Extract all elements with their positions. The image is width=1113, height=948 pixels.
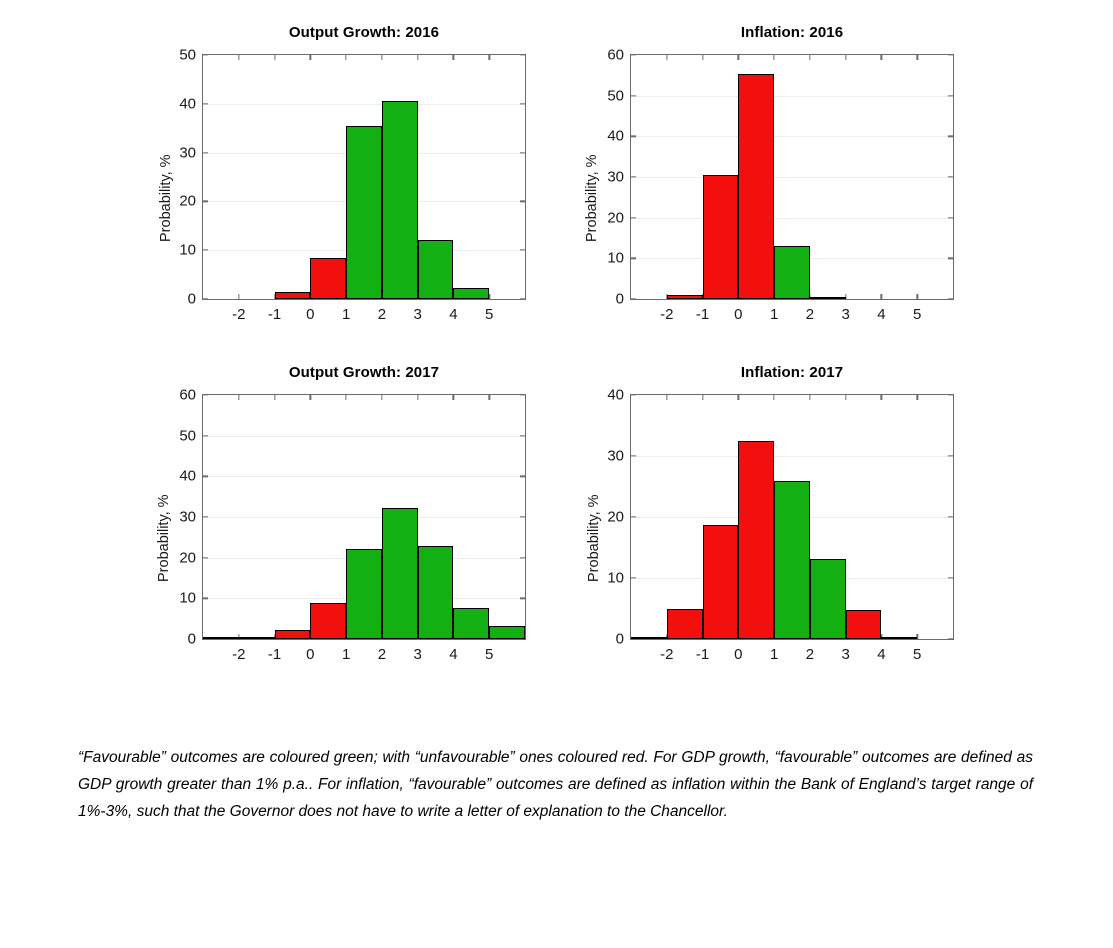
grid-line (203, 104, 525, 105)
y-axis-tick (520, 152, 525, 153)
y-axis-tick (203, 201, 208, 202)
x-axis-tick (489, 55, 490, 60)
x-axis-tick (274, 395, 275, 400)
y-axis-tick (203, 598, 208, 599)
x-axis-tick-label: 3 (841, 306, 849, 323)
x-axis-tick-label: 1 (342, 306, 350, 323)
y-axis-tick-label: 10 (607, 250, 624, 267)
x-axis-tick (845, 55, 846, 60)
bar (810, 297, 846, 299)
x-axis-tick (345, 395, 346, 400)
y-axis-tick (948, 258, 953, 259)
y-axis-tick (948, 577, 953, 578)
grid-line (203, 517, 525, 518)
x-axis-tick (702, 395, 703, 400)
plot-area: 0102030405060-2-1012345 (630, 54, 954, 300)
y-axis-tick (948, 394, 953, 395)
x-axis-tick (666, 55, 667, 60)
y-axis-tick (948, 455, 953, 456)
y-axis-tick (520, 298, 525, 299)
y-axis-tick (203, 476, 208, 477)
y-axis-tick (520, 201, 525, 202)
x-axis-tick-label: -1 (268, 306, 281, 323)
y-axis-tick (948, 176, 953, 177)
bar (453, 288, 489, 299)
y-axis-tick-label: 30 (179, 509, 196, 526)
x-axis-tick (417, 55, 418, 60)
x-axis-tick-label: 2 (378, 306, 386, 323)
y-axis-tick (948, 298, 953, 299)
y-axis-tick-label: 30 (179, 144, 196, 161)
plot-area: 01020304050-2-1012345 (202, 54, 526, 300)
y-axis-tick (948, 217, 953, 218)
x-axis-tick (381, 395, 382, 400)
y-axis-tick-label: 20 (179, 549, 196, 566)
x-axis-tick-label: -1 (696, 306, 709, 323)
chart-title: Inflation: 2017 (630, 364, 954, 381)
bar (382, 508, 418, 639)
x-axis-tick-label: 0 (734, 306, 742, 323)
y-axis-tick (520, 598, 525, 599)
x-axis-tick (310, 395, 311, 400)
bar (881, 637, 917, 639)
chart-panel-output-growth-2017: Output Growth: 2017 Probability, % 01020… (202, 364, 526, 640)
y-axis-label: Probability, % (158, 154, 174, 242)
bar (667, 295, 703, 299)
y-axis-tick (631, 577, 636, 578)
y-axis-tick-label: 40 (179, 95, 196, 112)
y-axis-tick (948, 516, 953, 517)
bar (275, 630, 311, 639)
y-axis-tick (520, 54, 525, 55)
plot-area: 0102030405060-2-1012345 (202, 394, 526, 640)
x-axis-tick (917, 395, 918, 400)
y-axis-tick (631, 298, 636, 299)
y-axis-tick (520, 435, 525, 436)
x-axis-tick-label: 4 (877, 306, 885, 323)
y-axis-tick (520, 557, 525, 558)
y-axis-tick-label: 40 (607, 387, 624, 404)
bar (346, 126, 382, 299)
x-axis-tick-label: 4 (449, 306, 457, 323)
x-axis-tick-label: -1 (696, 646, 709, 663)
bar (203, 637, 239, 639)
x-axis-tick-label: 0 (734, 646, 742, 663)
y-axis-tick (520, 476, 525, 477)
grid-line (631, 456, 953, 457)
chart-title: Output Growth: 2017 (202, 364, 526, 381)
y-axis-tick (631, 258, 636, 259)
x-axis-tick-label: 4 (877, 646, 885, 663)
x-axis-tick (809, 55, 810, 60)
x-axis-tick-label: 1 (770, 306, 778, 323)
bar (703, 175, 739, 299)
bar (275, 292, 311, 299)
x-axis-tick (453, 55, 454, 60)
chart-panel-inflation-2016: Inflation: 2016 Probability, % 010203040… (630, 24, 954, 300)
bar (774, 246, 810, 299)
x-axis-tick (881, 395, 882, 400)
y-axis-tick-label: 10 (179, 242, 196, 259)
bar (453, 608, 489, 639)
y-axis-tick (948, 638, 953, 639)
bar (846, 610, 882, 639)
x-axis-tick (809, 395, 810, 400)
bar (667, 609, 703, 640)
y-axis-tick-label: 50 (179, 427, 196, 444)
y-axis-tick-label: 10 (179, 590, 196, 607)
y-axis-tick (631, 217, 636, 218)
y-axis-tick-label: 20 (607, 209, 624, 226)
x-axis-tick (345, 55, 346, 60)
x-axis-tick (881, 294, 882, 299)
x-axis-tick-label: 2 (378, 646, 386, 663)
y-axis-tick (203, 103, 208, 104)
y-axis-tick (631, 136, 636, 137)
x-axis-tick (238, 55, 239, 60)
x-axis-tick (738, 55, 739, 60)
y-axis-tick (948, 136, 953, 137)
y-axis-tick (203, 152, 208, 153)
x-axis-tick-label: 5 (485, 306, 493, 323)
y-axis-tick (520, 516, 525, 517)
bar (774, 481, 810, 639)
y-axis-tick-label: 30 (607, 169, 624, 186)
bar (631, 637, 667, 639)
chart-title: Inflation: 2016 (630, 24, 954, 41)
y-axis-tick (631, 95, 636, 96)
y-axis-tick (948, 95, 953, 96)
x-axis-tick-label: 5 (913, 306, 921, 323)
y-axis-tick-label: 30 (607, 448, 624, 465)
x-axis-tick (917, 55, 918, 60)
bar (418, 546, 454, 639)
figure-caption: “Favourable” outcomes are coloured green… (78, 744, 1033, 825)
figure-panel-grid: Output Growth: 2016 Probability, % 01020… (0, 0, 1113, 700)
bar (310, 603, 346, 639)
chart-panel-output-growth-2016: Output Growth: 2016 Probability, % 01020… (202, 24, 526, 300)
x-axis-tick-label: 4 (449, 646, 457, 663)
x-axis-tick (881, 55, 882, 60)
x-axis-tick (381, 55, 382, 60)
y-axis-tick-label: 0 (188, 631, 196, 648)
grid-line (631, 136, 953, 137)
x-axis-tick (453, 395, 454, 400)
grid-line (203, 436, 525, 437)
bar (382, 101, 418, 299)
y-axis-tick (948, 54, 953, 55)
x-axis-tick-label: 5 (913, 646, 921, 663)
x-axis-tick (738, 395, 739, 400)
x-axis-tick-label: 2 (806, 646, 814, 663)
x-axis-tick-label: -2 (232, 306, 245, 323)
y-axis-tick (203, 250, 208, 251)
y-axis-tick-label: 20 (607, 509, 624, 526)
caption-text: “Favourable” outcomes are coloured green… (78, 744, 1033, 825)
grid-line (203, 476, 525, 477)
x-axis-tick (310, 55, 311, 60)
y-axis-label: Probability, % (156, 494, 172, 582)
x-axis-tick-label: 0 (306, 306, 314, 323)
bar (418, 240, 454, 299)
grid-line (631, 96, 953, 97)
x-axis-tick-label: 1 (770, 646, 778, 663)
x-axis-tick (917, 294, 918, 299)
grid-line (631, 177, 953, 178)
y-axis-tick (631, 54, 636, 55)
x-axis-tick-label: 3 (841, 646, 849, 663)
y-axis-tick-label: 60 (179, 387, 196, 404)
bar (738, 74, 774, 299)
grid-line (631, 218, 953, 219)
y-axis-tick-label: 40 (179, 468, 196, 485)
y-axis-tick (203, 54, 208, 55)
x-axis-tick-label: 3 (413, 646, 421, 663)
x-axis-tick (845, 395, 846, 400)
y-axis-tick-label: 0 (188, 291, 196, 308)
x-axis-tick (489, 395, 490, 400)
y-axis-tick-label: 50 (607, 87, 624, 104)
x-axis-tick-label: 5 (485, 646, 493, 663)
y-axis-label: Probability, % (584, 154, 600, 242)
x-axis-tick-label: -2 (232, 646, 245, 663)
bar (346, 549, 382, 639)
y-axis-tick (631, 516, 636, 517)
plot-area: 010203040-2-1012345 (630, 394, 954, 640)
y-axis-tick (203, 394, 208, 395)
bar (703, 525, 739, 639)
x-axis-tick (666, 395, 667, 400)
x-axis-tick (417, 395, 418, 400)
y-axis-tick-label: 40 (607, 128, 624, 145)
x-axis-tick-label: 3 (413, 306, 421, 323)
y-axis-tick (203, 435, 208, 436)
bar (810, 559, 846, 639)
x-axis-tick-label: -1 (268, 646, 281, 663)
y-axis-tick (203, 516, 208, 517)
bar (738, 441, 774, 639)
y-axis-tick (631, 455, 636, 456)
x-axis-tick-label: 2 (806, 306, 814, 323)
x-axis-tick (773, 395, 774, 400)
x-axis-tick (702, 55, 703, 60)
bar (239, 637, 275, 639)
y-axis-tick-label: 50 (179, 47, 196, 64)
chart-title: Output Growth: 2016 (202, 24, 526, 41)
y-axis-tick (203, 298, 208, 299)
x-axis-tick-label: -2 (660, 306, 673, 323)
y-axis-tick (631, 394, 636, 395)
y-axis-tick-label: 0 (616, 631, 624, 648)
x-axis-tick-label: 1 (342, 646, 350, 663)
y-axis-tick (203, 557, 208, 558)
y-axis-tick-label: 20 (179, 193, 196, 210)
y-axis-tick-label: 0 (616, 291, 624, 308)
y-axis-tick (520, 394, 525, 395)
y-axis-label: Probability, % (586, 494, 602, 582)
x-axis-tick-label: 0 (306, 646, 314, 663)
chart-panel-inflation-2017: Inflation: 2017 Probability, % 010203040… (630, 364, 954, 640)
bar (310, 258, 346, 299)
y-axis-tick-label: 60 (607, 47, 624, 64)
y-axis-tick-label: 10 (607, 570, 624, 587)
x-axis-tick (274, 55, 275, 60)
y-axis-tick (520, 250, 525, 251)
x-axis-tick (773, 55, 774, 60)
x-axis-tick (238, 294, 239, 299)
x-axis-tick (238, 395, 239, 400)
x-axis-tick-label: -2 (660, 646, 673, 663)
y-axis-tick (631, 176, 636, 177)
y-axis-tick (520, 103, 525, 104)
bar (489, 626, 525, 639)
